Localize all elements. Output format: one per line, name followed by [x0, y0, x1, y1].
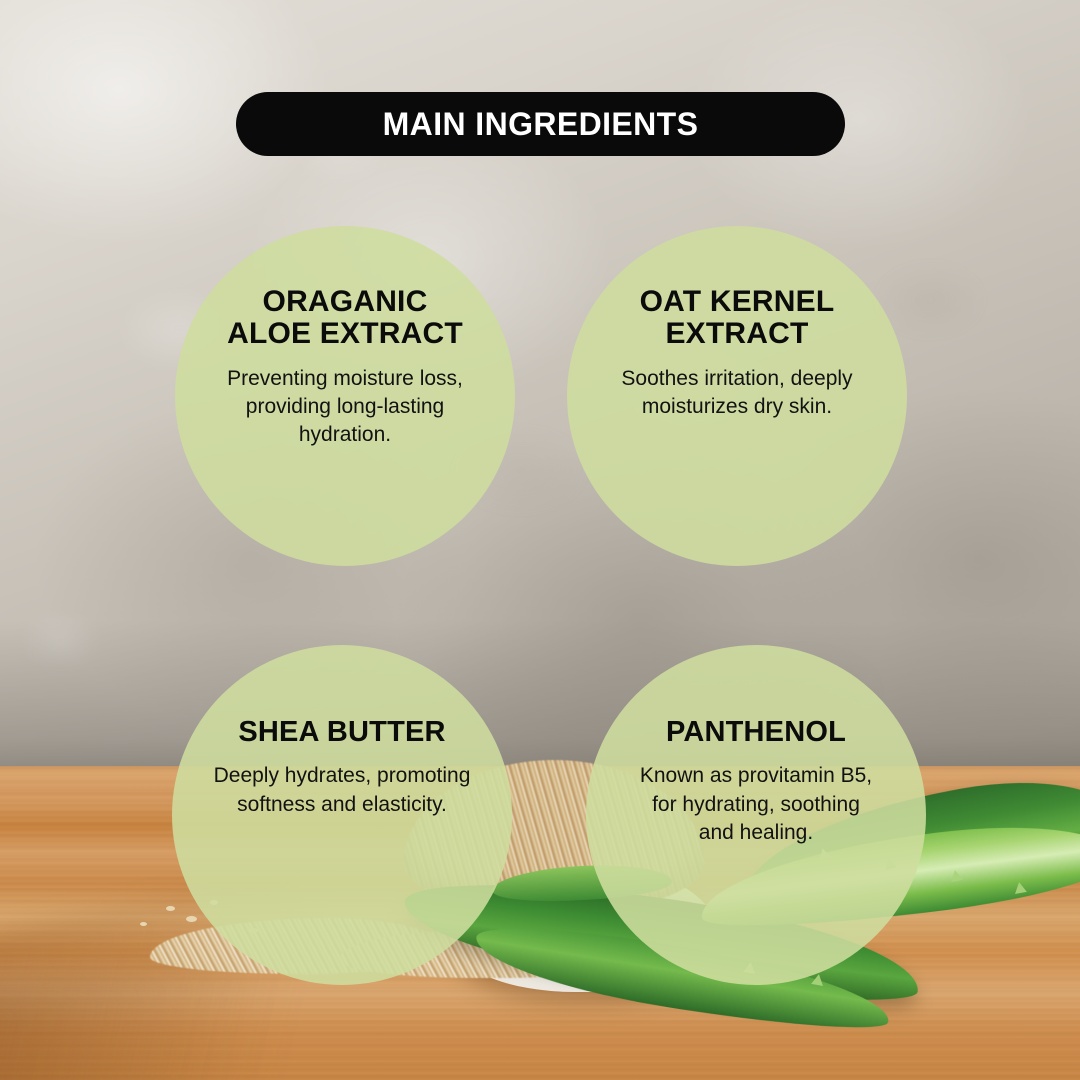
- ingredient-description: Deeply hydrates, promoting softness and …: [214, 762, 471, 819]
- ingredient-description: Soothes irritation, deeply moisturizes d…: [621, 365, 852, 422]
- ingredients-poster: MAIN INGREDIENTS ORAGANIC ALOE EXTRACT P…: [0, 0, 1080, 1080]
- ingredient-title: ORAGANIC ALOE EXTRACT: [227, 286, 463, 351]
- page-title: MAIN INGREDIENTS: [383, 106, 699, 143]
- oat-crumb: [166, 906, 175, 911]
- ingredient-card-panthenol[interactable]: PANTHENOL Known as provitamin B5, for hy…: [586, 645, 926, 985]
- ingredient-card-shea-butter[interactable]: SHEA BUTTER Deeply hydrates, promoting s…: [172, 645, 512, 985]
- ingredient-title: PANTHENOL: [666, 717, 846, 748]
- main-title-banner: MAIN INGREDIENTS: [236, 92, 845, 156]
- ingredient-description: Known as provitamin B5, for hydrating, s…: [640, 762, 872, 847]
- ingredient-title: SHEA BUTTER: [238, 717, 445, 748]
- background-photo: [0, 0, 1080, 1080]
- ingredient-card-organic-aloe-extract[interactable]: ORAGANIC ALOE EXTRACT Preventing moistur…: [175, 226, 515, 566]
- ingredient-card-oat-kernel-extract[interactable]: OAT KERNEL EXTRACT Soothes irritation, d…: [567, 226, 907, 566]
- oat-crumb: [140, 922, 147, 926]
- aloe-spine: [1013, 881, 1027, 894]
- oat-crumb: [186, 916, 197, 922]
- ingredient-title: OAT KERNEL EXTRACT: [640, 286, 835, 351]
- ingredient-description: Preventing moisture loss, providing long…: [227, 365, 463, 450]
